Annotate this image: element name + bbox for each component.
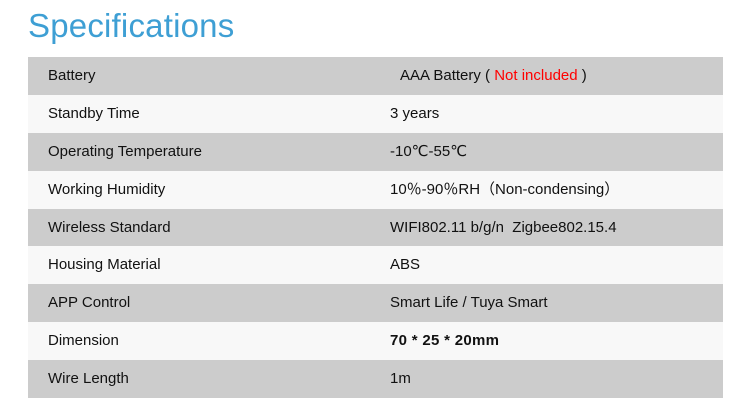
spec-value-dimension: 70 * 25 * 20mm: [383, 322, 723, 360]
battery-value-prefix: AAA Battery (: [400, 67, 494, 84]
table-row: Working Humidity 10％-90％RH（Non-condensin…: [28, 171, 723, 209]
spec-label-standby-time: Standby Time: [28, 95, 383, 133]
table-row: APP Control Smart Life / Tuya Smart: [28, 284, 723, 322]
spec-value-operating-temperature: -10℃-55℃: [383, 133, 723, 171]
spec-label-operating-temperature: Operating Temperature: [28, 133, 383, 171]
battery-value-suffix: ): [578, 67, 587, 84]
spec-label-working-humidity: Working Humidity: [28, 171, 383, 209]
battery-not-included-badge: Not included: [494, 67, 577, 84]
spec-value-standby-time: 3 years: [383, 95, 723, 133]
spec-label-battery: Battery: [28, 57, 383, 95]
spec-value-battery: AAA Battery ( Not included ): [383, 57, 723, 95]
spec-label-wireless-standard: Wireless Standard: [28, 209, 383, 247]
specifications-table: Battery AAA Battery ( Not included ) Sta…: [28, 57, 723, 398]
specifications-page: Specifications Battery AAA Battery ( Not…: [0, 0, 750, 414]
spec-value-app-control: Smart Life / Tuya Smart: [383, 284, 723, 322]
page-title: Specifications: [28, 4, 234, 48]
spec-label-dimension: Dimension: [28, 322, 383, 360]
spec-label-app-control: APP Control: [28, 284, 383, 322]
table-row: Standby Time 3 years: [28, 95, 723, 133]
spec-label-wire-length: Wire Length: [28, 360, 383, 398]
spec-label-housing-material: Housing Material: [28, 246, 383, 284]
table-row: Operating Temperature -10℃-55℃: [28, 133, 723, 171]
table-row: Wire Length 1m: [28, 360, 723, 398]
table-row: Dimension 70 * 25 * 20mm: [28, 322, 723, 360]
table-row: Battery AAA Battery ( Not included ): [28, 57, 723, 95]
table-row: Housing Material ABS: [28, 246, 723, 284]
spec-value-wireless-standard: WIFI802.11 b/g/n Zigbee802.15.4: [383, 209, 723, 247]
spec-value-housing-material: ABS: [383, 246, 723, 284]
spec-value-wire-length: 1m: [383, 360, 723, 398]
spec-value-working-humidity: 10％-90％RH（Non-condensing）: [383, 171, 723, 209]
table-row: Wireless Standard WIFI802.11 b/g/n Zigbe…: [28, 209, 723, 247]
